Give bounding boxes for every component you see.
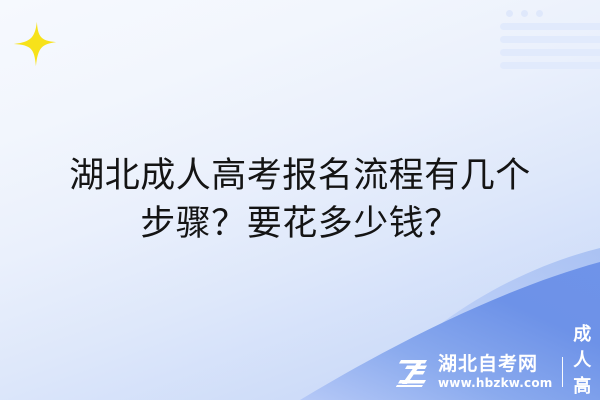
sparkle-star-icon: [10, 20, 58, 68]
brand-text-block: 湖北自考网 www.hbzkw.com: [438, 355, 553, 389]
headline-line-2: 步骤？要花多少钱？: [0, 200, 600, 248]
brand-url: www.hbzkw.com: [438, 377, 553, 389]
headline-line-1: 湖北成人高考报名流程有几个: [0, 152, 600, 200]
brand-lockup[interactable]: 湖北自考网 www.hbzkw.com 成人高考: [396, 352, 600, 392]
document-dots: [506, 10, 600, 17]
document-dot: [506, 10, 513, 17]
brand-tag: 成人高考: [573, 320, 600, 400]
document-lines-icon: [500, 10, 600, 68]
banner-headline: 湖北成人高考报名流程有几个 步骤？要花多少钱？: [0, 152, 600, 248]
document-dot: [536, 10, 543, 17]
brand-name: 湖北自考网: [438, 355, 553, 374]
document-dot: [521, 10, 528, 17]
document-bar: [500, 49, 600, 56]
document-bar: [500, 62, 600, 69]
document-bar: [500, 36, 600, 43]
promo-banner: 湖北成人高考报名流程有几个 步骤？要花多少钱？ 湖北自考网 www.hbzkw.…: [0, 0, 600, 400]
document-bar: [500, 23, 600, 30]
brand-divider: [562, 357, 563, 387]
hbzkw-logo-icon: [396, 357, 430, 387]
